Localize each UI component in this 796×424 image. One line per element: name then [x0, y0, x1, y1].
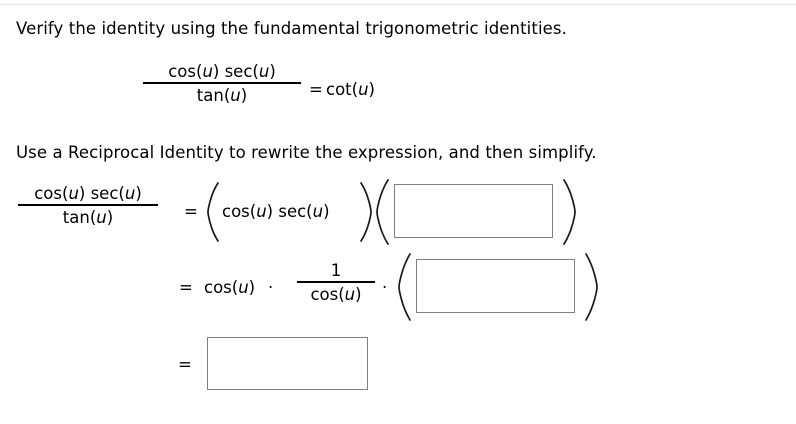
step2-factor: cos(u)	[204, 278, 255, 297]
step2-equals: =	[179, 278, 193, 297]
step1-equals: =	[184, 202, 198, 221]
step2-multiply-dot-2: ·	[382, 278, 387, 297]
identity-equals: =	[309, 80, 323, 99]
step1-answer-close-paren	[560, 178, 578, 246]
prompt-line-2: Use a Reciprocal Identity to rewrite the…	[16, 143, 597, 163]
step2-multiply-dot-1: ·	[268, 278, 273, 297]
step2-answer-open-paren	[396, 252, 414, 322]
step3-equals: =	[178, 355, 192, 374]
step2-reciprocal-fraction: 1 cos(u)	[297, 261, 375, 304]
step1-answer-input[interactable]	[394, 184, 553, 238]
step1-lhs-denominator: tan(u)	[18, 206, 158, 227]
identity-right-side: cot(u)	[326, 80, 375, 99]
prompt-line-1: Verify the identity using the fundamenta…	[16, 19, 567, 39]
identity-fraction: cos(u) sec(u) tan(u)	[143, 62, 301, 105]
step2-answer-input[interactable]	[416, 259, 575, 313]
step2-fraction-numerator: 1	[297, 261, 375, 281]
step2-fraction-denominator: cos(u)	[297, 283, 375, 304]
step1-group-close-paren	[358, 181, 374, 243]
step1-lhs-numerator: cos(u) sec(u)	[18, 184, 158, 204]
step1-lhs-fraction: cos(u) sec(u) tan(u)	[18, 184, 158, 227]
step1-group-factor: cos(u) sec(u)	[222, 202, 330, 221]
step1-group-open-paren	[205, 181, 221, 243]
top-divider	[0, 4, 796, 5]
identity-numerator: cos(u) sec(u)	[143, 62, 301, 82]
identity-denominator: tan(u)	[143, 84, 301, 105]
step1-answer-open-paren	[374, 178, 392, 246]
step2-answer-close-paren	[582, 252, 600, 322]
step3-answer-input[interactable]	[207, 337, 368, 390]
